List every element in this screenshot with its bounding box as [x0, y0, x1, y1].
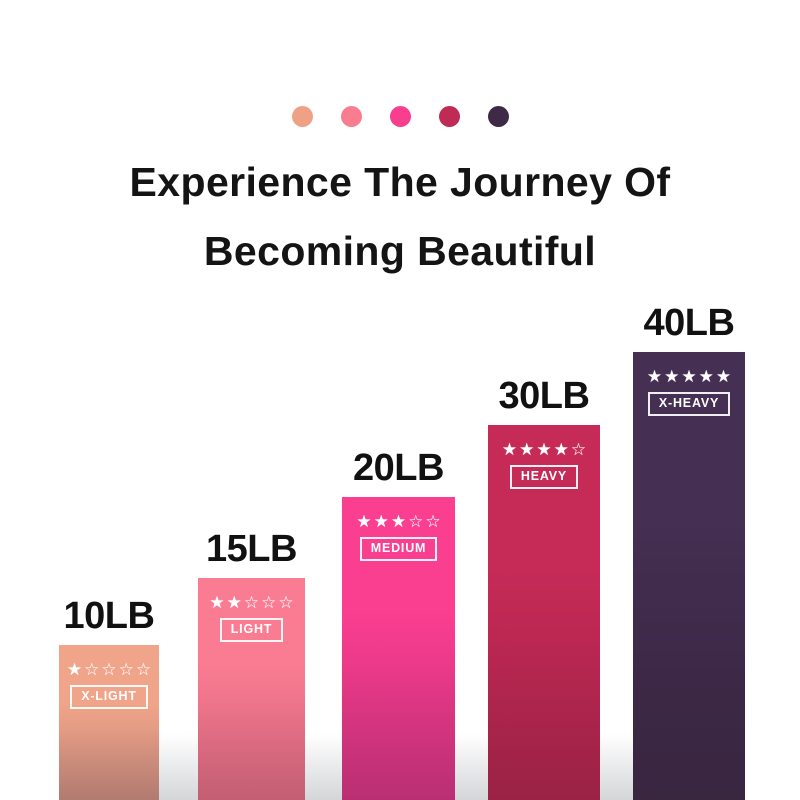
bar-fill	[633, 352, 745, 800]
bar-meta: ★★★★☆HEAVY	[488, 441, 600, 489]
bar-group-x-light[interactable]: 10LB★☆☆☆☆X-LIGHT	[59, 645, 159, 800]
star-empty-icon: ☆	[425, 513, 440, 530]
bar-group-x-heavy[interactable]: 40LB★★★★★X-HEAVY	[633, 352, 745, 800]
star-rating: ★☆☆☆☆	[67, 661, 151, 678]
bar-weight-label: 20LB	[353, 447, 444, 490]
star-filled-icon: ★	[699, 368, 714, 385]
star-filled-icon: ★	[664, 368, 679, 385]
star-empty-icon: ☆	[136, 661, 151, 678]
star-filled-icon: ★	[536, 441, 551, 458]
star-empty-icon: ☆	[119, 661, 134, 678]
bar-gap-shading	[600, 680, 633, 800]
bar-group-light[interactable]: 15LB★★☆☆☆LIGHT	[198, 578, 305, 800]
bar-gap-shading	[305, 680, 342, 800]
star-empty-icon: ☆	[84, 661, 99, 678]
bar-group-heavy[interactable]: 30LB★★★★☆HEAVY	[488, 425, 600, 800]
star-filled-icon: ★	[391, 513, 406, 530]
star-empty-icon: ☆	[278, 594, 293, 611]
star-filled-icon: ★	[356, 513, 371, 530]
star-rating: ★★☆☆☆	[209, 594, 293, 611]
star-filled-icon: ★	[716, 368, 731, 385]
star-filled-icon: ★	[209, 594, 224, 611]
bar-group-medium[interactable]: 20LB★★★☆☆MEDIUM	[342, 497, 455, 800]
bar-meta: ★☆☆☆☆X-LIGHT	[59, 661, 159, 709]
star-empty-icon: ☆	[408, 513, 423, 530]
star-filled-icon: ★	[67, 661, 82, 678]
star-empty-icon: ☆	[261, 594, 276, 611]
level-badge: X-HEAVY	[648, 392, 730, 416]
star-filled-icon: ★	[647, 368, 662, 385]
poster-canvas: Experience The Journey Of Becoming Beaut…	[0, 0, 800, 800]
star-filled-icon: ★	[502, 441, 517, 458]
level-badge: MEDIUM	[360, 537, 438, 561]
star-empty-icon: ☆	[571, 441, 586, 458]
star-filled-icon: ★	[227, 594, 242, 611]
bar-body[interactable]: ★★☆☆☆LIGHT	[198, 578, 305, 800]
bar-weight-label: 40LB	[644, 302, 735, 345]
bar-body[interactable]: ★★★★☆HEAVY	[488, 425, 600, 800]
bar-body[interactable]: ★★★★★X-HEAVY	[633, 352, 745, 800]
level-badge: X-LIGHT	[70, 685, 148, 709]
bar-weight-label: 30LB	[499, 375, 590, 418]
star-filled-icon: ★	[374, 513, 389, 530]
star-filled-icon: ★	[554, 441, 569, 458]
bar-gap-shading	[455, 680, 488, 800]
bar-body[interactable]: ★★★☆☆MEDIUM	[342, 497, 455, 800]
star-rating: ★★★☆☆	[356, 513, 440, 530]
star-filled-icon: ★	[681, 368, 696, 385]
bar-body[interactable]: ★☆☆☆☆X-LIGHT	[59, 645, 159, 800]
level-badge: HEAVY	[510, 465, 578, 489]
star-rating: ★★★★★	[647, 368, 731, 385]
bar-meta: ★★☆☆☆LIGHT	[198, 594, 305, 642]
bar-weight-label: 15LB	[206, 528, 297, 571]
star-empty-icon: ☆	[101, 661, 116, 678]
star-rating: ★★★★☆	[502, 441, 586, 458]
bar-meta: ★★★★★X-HEAVY	[633, 368, 745, 416]
level-badge: LIGHT	[220, 618, 284, 642]
resistance-bar-chart: 10LB★☆☆☆☆X-LIGHT15LB★★☆☆☆LIGHT20LB★★★☆☆M…	[0, 0, 800, 800]
bar-weight-label: 10LB	[64, 595, 155, 638]
bar-meta: ★★★☆☆MEDIUM	[342, 513, 455, 561]
star-filled-icon: ★	[519, 441, 534, 458]
star-empty-icon: ☆	[244, 594, 259, 611]
bar-gap-shading	[159, 680, 198, 800]
